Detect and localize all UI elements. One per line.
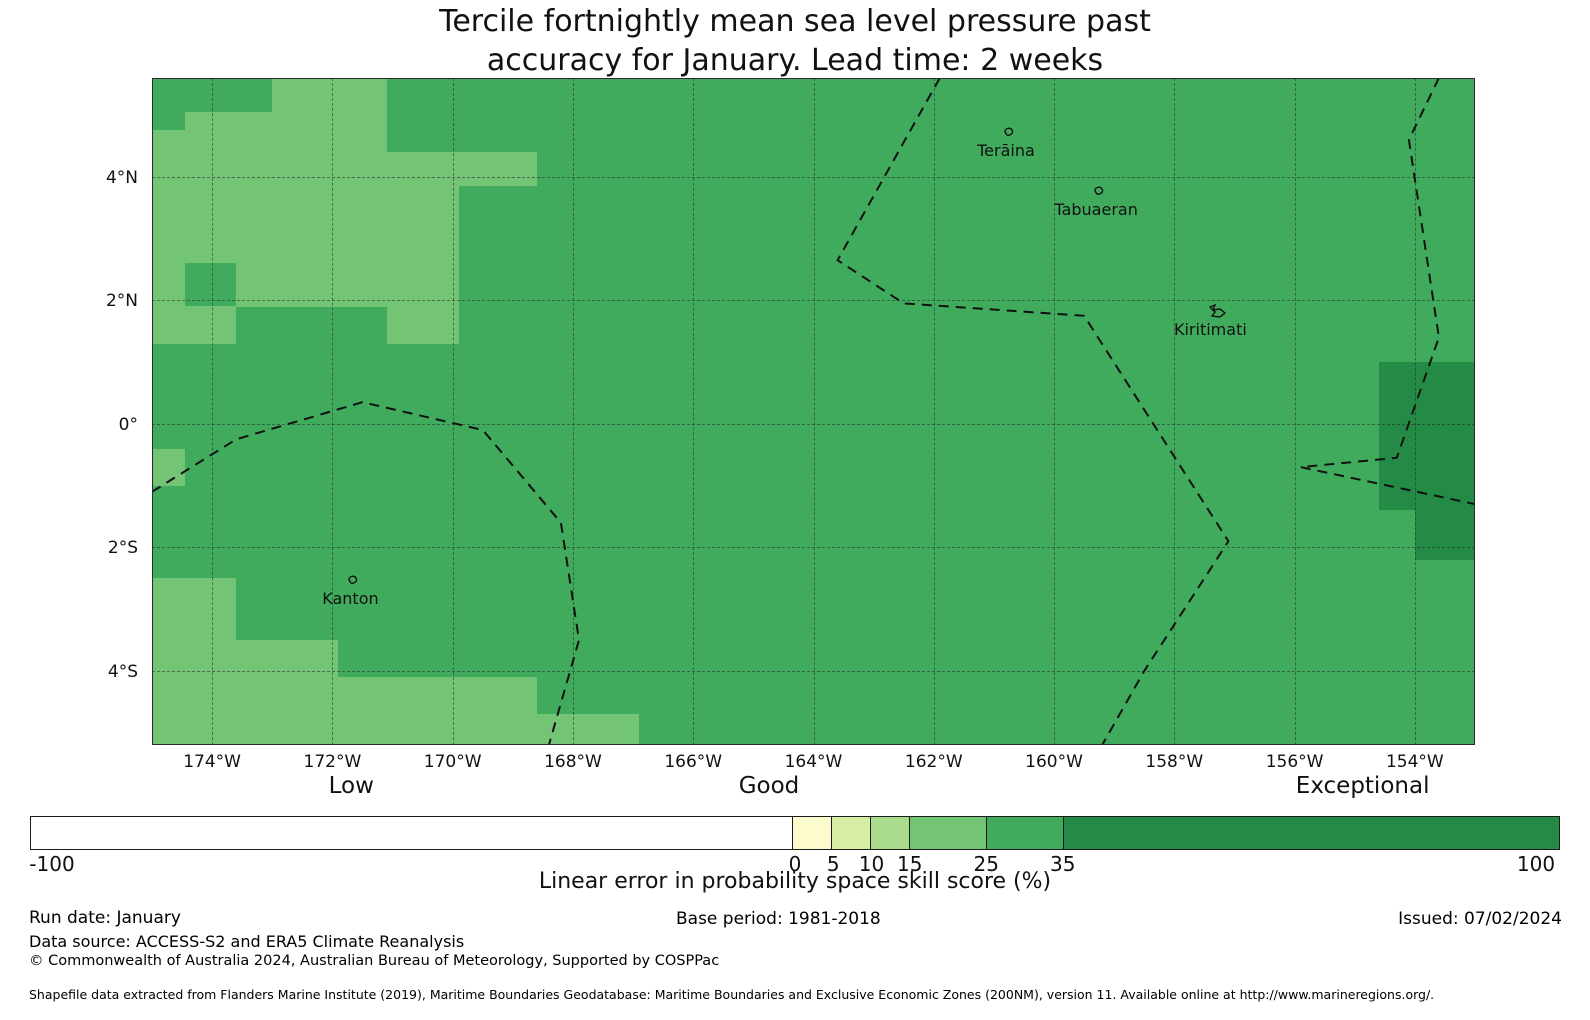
colorbar-category-label: Good bbox=[739, 773, 800, 799]
heatmap-cell bbox=[152, 130, 185, 263]
footer-issued-date: Issued: 07/02/2024 bbox=[1398, 909, 1562, 929]
heatmap-cell bbox=[1415, 510, 1475, 559]
heatmap-cell bbox=[152, 78, 185, 130]
map-plot-area bbox=[152, 78, 1475, 745]
heatmap-cell bbox=[152, 640, 338, 677]
heatmap-cell bbox=[152, 578, 236, 640]
x-axis-tick-label: 162°W bbox=[874, 752, 994, 772]
colorbar-segment bbox=[1063, 817, 1559, 849]
gridline-vertical bbox=[1295, 78, 1296, 745]
colorbar-segment bbox=[31, 817, 792, 849]
heatmap-cell bbox=[387, 78, 459, 152]
colorbar-segment bbox=[986, 817, 1063, 849]
island-label: Terāina bbox=[977, 141, 1035, 160]
island-label: Tabuaeran bbox=[1054, 200, 1137, 219]
heatmap-cell bbox=[537, 714, 639, 745]
heatmap-cell bbox=[185, 263, 236, 306]
x-axis-tick-label: 170°W bbox=[393, 752, 513, 772]
y-axis-tick-label: 2°N bbox=[18, 291, 138, 311]
gridline-horizontal bbox=[152, 547, 1475, 548]
x-axis-tick-label: 168°W bbox=[513, 752, 633, 772]
gridline-horizontal bbox=[152, 424, 1475, 425]
y-axis-tick-label: 4°S bbox=[18, 662, 138, 682]
heatmap-cell bbox=[1379, 362, 1475, 510]
island-label: Kiritimati bbox=[1174, 320, 1247, 339]
heatmap-cell bbox=[459, 152, 537, 186]
gridline-vertical bbox=[1054, 78, 1055, 745]
x-axis-tick-label: 164°W bbox=[754, 752, 874, 772]
x-axis-tick-label: 158°W bbox=[1114, 752, 1234, 772]
gridline-vertical bbox=[573, 78, 574, 745]
gridline-horizontal bbox=[152, 671, 1475, 672]
colorbar-title: Linear error in probability space skill … bbox=[0, 869, 1590, 894]
page-title: Tercile fortnightly mean sea level press… bbox=[0, 2, 1590, 80]
heatmap-cell bbox=[272, 78, 386, 152]
heatmap-cell bbox=[185, 152, 386, 263]
gridline-vertical bbox=[1174, 78, 1175, 745]
x-axis-tick-label: 156°W bbox=[1235, 752, 1355, 772]
y-axis-tick-label: 2°S bbox=[18, 538, 138, 558]
x-axis-tick-label: 160°W bbox=[994, 752, 1114, 772]
x-axis-tick-label: 154°W bbox=[1355, 752, 1475, 772]
colorbar bbox=[30, 816, 1560, 850]
footer-run-date: Run date: January bbox=[29, 908, 181, 928]
heatmap-cell bbox=[152, 307, 236, 344]
colorbar-segment bbox=[909, 817, 986, 849]
colorbar-segment bbox=[831, 817, 870, 849]
colorbar-category-label: Exceptional bbox=[1296, 773, 1430, 799]
x-axis-tick-label: 174°W bbox=[152, 752, 272, 772]
colorbar-category-label: Low bbox=[329, 773, 374, 799]
heatmap-cell bbox=[185, 78, 272, 112]
heatmap-cell bbox=[152, 449, 185, 486]
gridline-vertical bbox=[934, 78, 935, 745]
x-axis-tick-label: 166°W bbox=[633, 752, 753, 772]
gridline-vertical bbox=[814, 78, 815, 745]
x-axis-tick-label: 172°W bbox=[272, 752, 392, 772]
footer-shapefile-attribution: Shapefile data extracted from Flanders M… bbox=[29, 987, 1434, 1002]
heatmap-cell bbox=[236, 307, 386, 344]
heatmap-cell bbox=[1415, 245, 1475, 307]
colorbar-segment bbox=[870, 817, 909, 849]
heatmap-cell bbox=[387, 152, 459, 343]
colorbar-segment bbox=[792, 817, 831, 849]
y-axis-tick-label: 0° bbox=[18, 415, 138, 435]
island-label: Kanton bbox=[322, 589, 378, 608]
heatmap-cell bbox=[152, 677, 537, 745]
footer-copyright: © Commonwealth of Australia 2024, Austra… bbox=[29, 953, 719, 969]
heatmap-cell bbox=[185, 112, 272, 152]
footer-base-period: Base period: 1981-2018 bbox=[676, 909, 881, 929]
y-axis-tick-label: 4°N bbox=[18, 168, 138, 188]
heatmap-cell bbox=[459, 78, 537, 223]
footer-data-source: Data source: ACCESS-S2 and ERA5 Climate … bbox=[29, 932, 464, 951]
gridline-vertical bbox=[693, 78, 694, 745]
